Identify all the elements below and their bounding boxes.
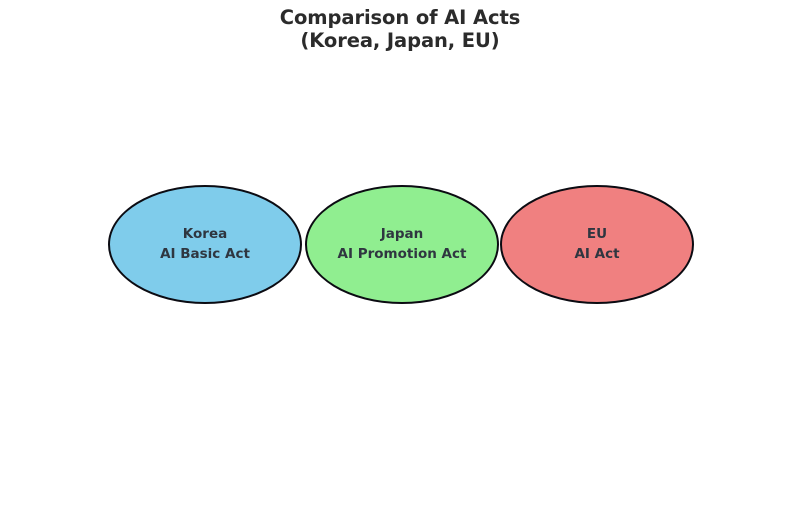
node-eu-act: AI Act: [574, 245, 619, 265]
node-eu-region: EU: [587, 225, 607, 245]
ellipse-row: Korea AI Basic Act Japan AI Promotion Ac…: [0, 185, 800, 305]
diagram-canvas: Comparison of AI Acts (Korea, Japan, EU)…: [0, 0, 800, 530]
node-japan-act: AI Promotion Act: [338, 245, 467, 265]
node-korea-region: Korea: [183, 225, 227, 245]
node-korea-act: AI Basic Act: [160, 245, 250, 265]
title-line-1: Comparison of AI Acts: [0, 6, 800, 29]
title-line-2: (Korea, Japan, EU): [0, 29, 800, 52]
page-title: Comparison of AI Acts (Korea, Japan, EU): [0, 6, 800, 52]
node-japan-region: Japan: [381, 225, 424, 245]
node-korea[interactable]: Korea AI Basic Act: [108, 185, 302, 304]
node-eu[interactable]: EU AI Act: [500, 185, 694, 304]
node-japan[interactable]: Japan AI Promotion Act: [305, 185, 499, 304]
